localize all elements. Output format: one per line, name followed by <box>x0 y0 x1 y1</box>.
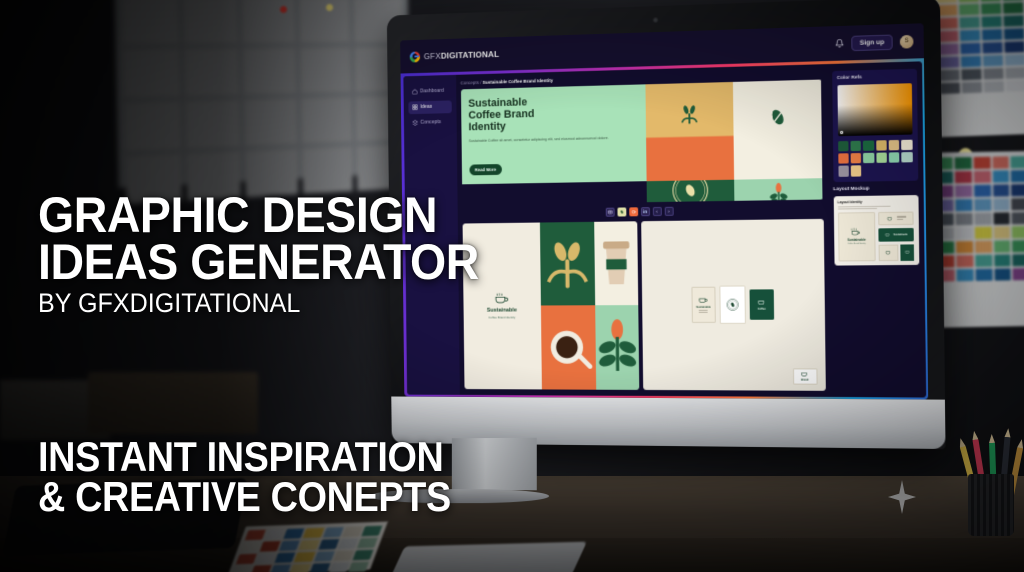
desk-swatch <box>284 528 305 539</box>
wall-swatch <box>955 157 972 169</box>
image-icon[interactable] <box>605 207 614 216</box>
gallery-row: Sustainable Coffee Brand Identity <box>462 218 825 390</box>
wall-swatch <box>1012 212 1024 224</box>
desk-swatch <box>314 551 335 562</box>
desk-swatch <box>318 539 339 550</box>
desk-swatch <box>352 550 373 561</box>
wall-swatch <box>1003 2 1023 14</box>
wall-swatch <box>956 227 973 239</box>
wall-swatch <box>984 81 1004 93</box>
logo-brand-bold: DIGITATIONAL <box>441 49 500 61</box>
cup-logo-icon <box>885 250 892 255</box>
wall-swatch <box>975 227 992 239</box>
wall-swatch <box>961 56 981 68</box>
headline-block: GRAPHIC DESIGN IDEAS GENERATOR BY GFXDIG… <box>38 192 512 316</box>
wall-swatch <box>993 198 1010 210</box>
hero-title-line1: Sustainable <box>468 96 527 109</box>
color-swatch[interactable] <box>876 140 887 151</box>
desk-swatch <box>322 527 343 538</box>
wall-swatch <box>1012 198 1024 210</box>
sidebar-item-dashboard[interactable]: Dashboard <box>408 84 451 98</box>
app-logo[interactable]: GFXDIGITATIONAL <box>410 49 500 63</box>
sidebar-item-label: Concepts <box>420 119 441 125</box>
wall-swatch <box>1013 268 1024 280</box>
tile-sprout <box>540 221 595 305</box>
hero-illustration-leaf <box>734 178 823 200</box>
wall-swatch <box>974 171 991 183</box>
color-swatch[interactable] <box>851 165 862 176</box>
desk-swatch <box>240 542 261 553</box>
placeholder-lines <box>837 205 914 209</box>
wall-swatch <box>955 171 972 183</box>
desk-swatch <box>275 552 296 563</box>
mockup-label: Brand <box>801 379 809 382</box>
wall-swatch <box>1011 156 1024 168</box>
wall-swatch <box>983 68 1003 80</box>
wall-swatch <box>1003 15 1023 27</box>
wall-swatch <box>959 0 979 2</box>
screenshot-stage: GFXDIGITATIONAL Sign up S <box>0 0 1024 572</box>
tile-coffee-top <box>541 305 596 389</box>
desk-swatch <box>329 562 350 572</box>
color-swatch[interactable] <box>863 140 874 151</box>
wall-swatch <box>956 241 973 253</box>
desk-color-swatch-sheet <box>228 522 388 572</box>
logo-text: GFXDIGITATIONAL <box>424 49 500 61</box>
desk-swatch <box>303 528 324 539</box>
layers-icon <box>412 120 418 126</box>
color-picker-knob[interactable] <box>840 130 843 133</box>
wall-swatch <box>994 240 1011 252</box>
wall-swatch <box>974 185 991 197</box>
mockup-card-dark: Coffee <box>749 289 774 319</box>
desk-swatch <box>270 564 291 572</box>
wall-swatch <box>939 56 959 68</box>
wall-swatch <box>982 29 1002 41</box>
hero-card: Sustainable Coffee Brand Identity Sustai… <box>460 79 822 204</box>
desk-swatch <box>299 540 320 551</box>
pencil-holder <box>968 474 1014 536</box>
placeholder-lines <box>699 310 708 314</box>
tile-leaf <box>595 305 640 389</box>
wall-swatch <box>1011 170 1024 182</box>
cup-logo-icon <box>850 228 862 237</box>
wall-swatch <box>960 30 980 42</box>
wall-swatch <box>938 30 958 42</box>
wall-swatch <box>1004 28 1024 40</box>
wall-swatch <box>981 0 1001 2</box>
prev-button[interactable]: ‹ <box>652 206 661 215</box>
desk-swatch <box>264 529 285 540</box>
wall-swatch <box>961 69 981 81</box>
subhead-line2: & CREATIVE CONEPTS <box>38 477 451 517</box>
wall-swatch <box>994 268 1011 280</box>
wall-swatch <box>992 170 1009 182</box>
cup-logo-icon <box>886 216 893 221</box>
moodboard-wall <box>114 0 411 188</box>
hero-title: Sustainable Coffee Brand Identity <box>468 93 638 134</box>
sidebar-item-ideas[interactable]: Ideas <box>408 100 451 114</box>
cup-logo-icon <box>885 232 891 237</box>
wall-swatch <box>956 199 973 211</box>
pin-yellow <box>326 4 333 11</box>
desk-swatch <box>361 526 382 537</box>
signup-button[interactable]: Sign up <box>851 34 892 51</box>
wall-swatch <box>1005 67 1024 79</box>
wall-swatch <box>975 269 992 281</box>
tile-takeaway-cup <box>594 221 639 305</box>
subhead-line1: INSTANT INSPIRATION <box>38 437 451 477</box>
business-card-mockup <box>878 211 914 225</box>
bell-icon[interactable] <box>835 38 844 48</box>
wall-swatch <box>993 184 1010 196</box>
hero-title-line2: Coffee Brand <box>468 108 534 121</box>
desk-swatch <box>337 538 358 549</box>
cup-logo-icon <box>756 299 766 306</box>
wall-swatch <box>959 4 979 16</box>
gallery-toolbar: in ‹ › <box>462 203 823 219</box>
wall-swatch <box>1004 41 1024 53</box>
desk-swatch <box>245 530 266 541</box>
wall-swatch <box>1011 184 1024 196</box>
color-swatch[interactable] <box>863 153 874 164</box>
google-g-icon <box>410 51 420 62</box>
poster-title: Sustainable <box>847 238 865 242</box>
wall-swatch <box>1006 80 1024 92</box>
wall-swatch <box>975 241 992 253</box>
wall-swatch <box>962 82 982 94</box>
hero-illustration-bean <box>733 79 823 180</box>
mockup-poster <box>719 285 746 323</box>
wall-swatch <box>981 3 1001 15</box>
read-more-button[interactable]: Read More <box>469 164 502 175</box>
wall-swatch <box>1012 226 1024 238</box>
wall-swatch <box>982 42 1002 54</box>
color-swatch[interactable] <box>902 152 913 163</box>
wall-swatch <box>957 255 974 267</box>
wall-swatch <box>975 213 992 225</box>
wall-swatch <box>959 17 979 29</box>
desk-swatch <box>279 540 300 551</box>
subhead-block: INSTANT INSPIRATION & CREATIVE CONEPTS <box>38 437 497 517</box>
gallery-card-stationery[interactable]: Sustainable <box>641 218 825 390</box>
breadcrumb-separator: / <box>480 80 481 85</box>
color-swatch[interactable] <box>838 153 849 164</box>
wall-swatch <box>956 213 973 225</box>
mockup-label: Coffee <box>758 307 766 310</box>
desk-swatch <box>255 553 276 564</box>
headline-line1: GRAPHIC DESIGN <box>38 192 479 239</box>
headline-line2: IDEAS GENERATOR <box>38 239 479 286</box>
keyboard <box>389 542 587 572</box>
wall-swatch <box>1005 54 1024 66</box>
wall-swatch <box>975 255 992 267</box>
color-swatch[interactable] <box>838 141 849 152</box>
hero-title-line3: Identity <box>468 121 505 134</box>
wall-swatch <box>992 156 1009 168</box>
sidebar-item-label: Ideas <box>420 104 432 110</box>
paired-mockups <box>878 244 914 261</box>
desk-swatch <box>294 552 315 563</box>
desk-box <box>88 372 258 434</box>
layout-poster: Sustainable Coffee Brand Identity <box>837 212 875 261</box>
wall-swatch <box>994 254 1011 266</box>
seal-icon <box>725 298 739 312</box>
wall-swatch <box>993 226 1010 238</box>
color-swatch-grid <box>838 139 913 176</box>
desk-swatch <box>232 566 253 572</box>
mockup-flyer: Sustainable <box>691 287 715 323</box>
wall-swatch <box>974 199 991 211</box>
desk-swatch <box>333 550 354 561</box>
bean-icon[interactable] <box>617 207 626 216</box>
grid-icon <box>412 104 418 110</box>
right-rail: Color Refs Layout Mockup Layout Identity <box>826 61 925 397</box>
desk-swatch <box>342 526 363 537</box>
breadcrumb-parent[interactable]: Concepts <box>460 80 478 85</box>
cup-logo-icon <box>800 370 809 377</box>
sidebar-item-concepts[interactable]: Concepts <box>408 116 451 130</box>
mockup-card-light: Brand <box>792 368 817 384</box>
mockup-label: Sustainable <box>696 306 711 309</box>
color-swatch[interactable] <box>850 140 861 151</box>
color-swatch[interactable] <box>876 152 887 163</box>
sidebar-item-label: Dashboard <box>420 88 444 95</box>
logo-brand-light: GFX <box>424 51 441 61</box>
wall-swatch <box>981 16 1001 28</box>
wall-swatch <box>1012 240 1024 252</box>
desk-swatch <box>290 564 311 572</box>
cup-logo-icon <box>698 296 709 304</box>
wall-swatch <box>955 185 972 197</box>
breadcrumb: Concepts / Sustainable Coffee Brand Iden… <box>460 70 821 85</box>
wall-swatch <box>938 43 958 55</box>
home-icon <box>412 89 418 95</box>
wall-swatch <box>983 55 1003 67</box>
linkedin-icon[interactable]: in <box>641 207 650 216</box>
wall-swatch <box>1003 0 1023 1</box>
poster-subtitle: Coffee Brand Identity <box>847 243 865 245</box>
wall-swatch <box>960 43 980 55</box>
wall-swatch <box>939 69 959 81</box>
wall-swatch <box>957 269 974 281</box>
desk-swatch <box>357 538 378 549</box>
wall-swatch <box>974 157 991 169</box>
byline: BY GFXDIGITATIONAL <box>38 291 479 316</box>
cup-icon[interactable] <box>629 207 638 216</box>
wall-swatch <box>937 17 957 29</box>
breadcrumb-current: Sustainable Coffee Brand Identity <box>482 77 553 84</box>
hero-text-block: Sustainable Coffee Brand Identity Sustai… <box>460 84 646 185</box>
wall-swatch <box>940 82 960 94</box>
desk-swatch <box>236 554 257 565</box>
desk-swatch <box>309 563 330 572</box>
color-swatch[interactable] <box>838 166 849 177</box>
desk-swatch <box>251 565 272 572</box>
hero-illustration-sprout <box>645 81 734 181</box>
hero-body-text: Sustainable Coffee sit amet, consetetur … <box>469 136 638 145</box>
desk-swatch <box>260 541 281 552</box>
hero-badge-seal <box>646 180 734 202</box>
wall-swatch <box>1013 254 1024 266</box>
wall-swatch <box>993 212 1010 224</box>
color-swatch[interactable] <box>850 153 861 164</box>
mockup-light <box>878 244 898 261</box>
next-button[interactable]: › <box>664 206 673 215</box>
pin-red <box>280 6 287 13</box>
